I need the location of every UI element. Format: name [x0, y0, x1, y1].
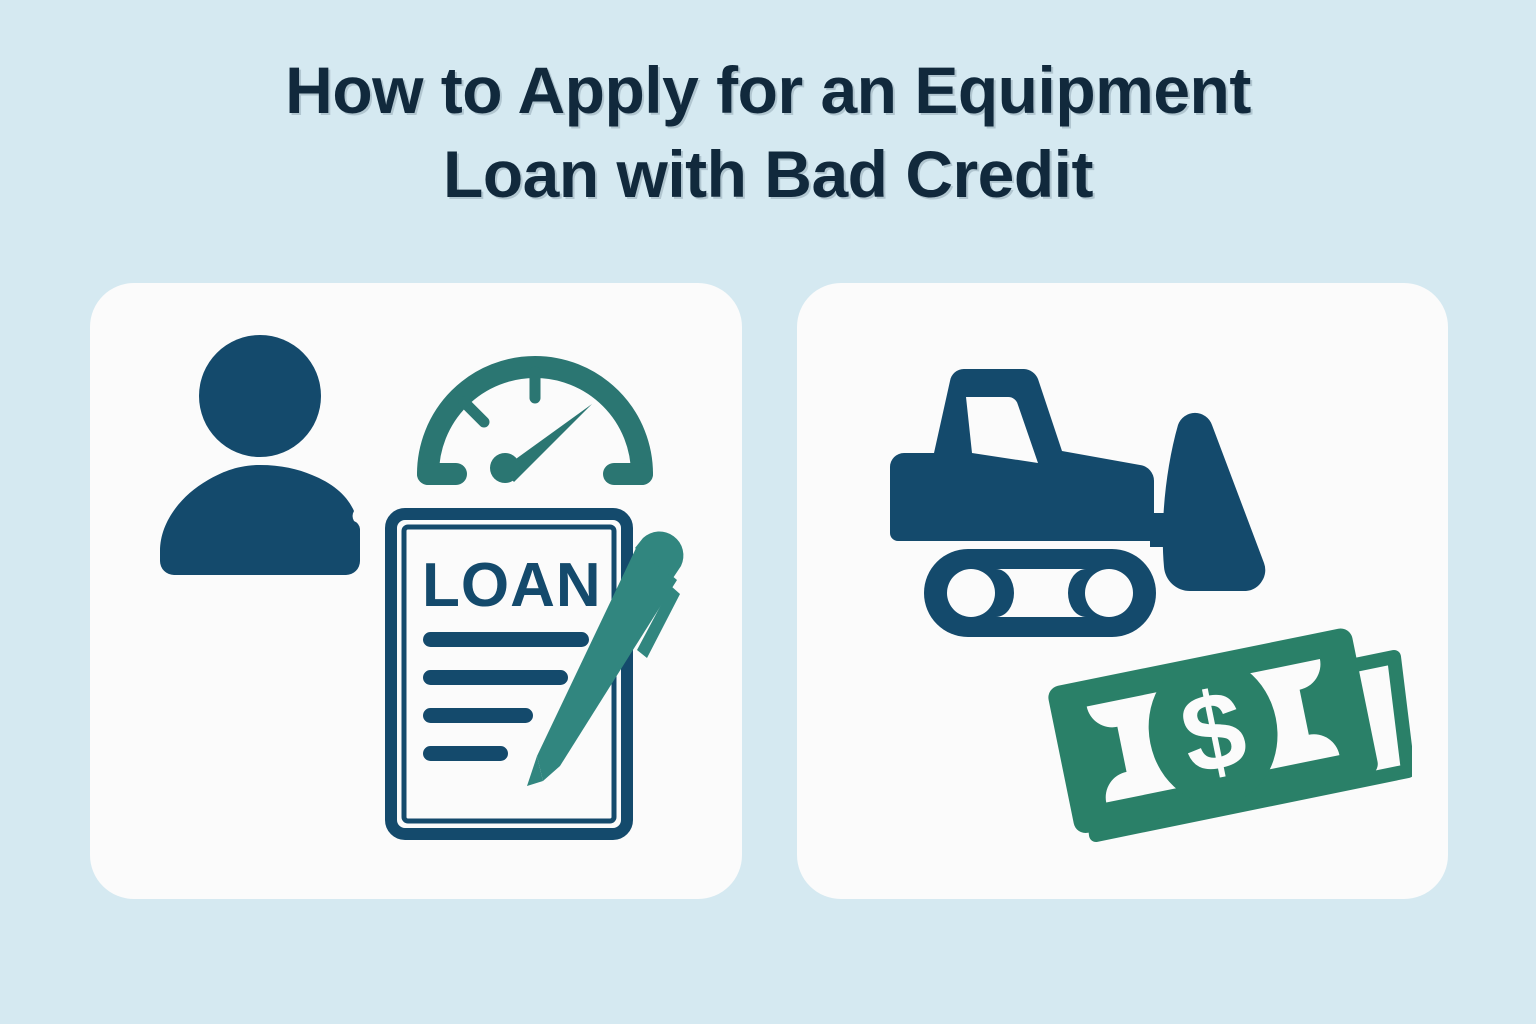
document-line-2	[423, 670, 568, 685]
loan-document-icon: LOAN	[385, 508, 705, 843]
document-line-4	[423, 746, 508, 761]
bulldozer-icon	[872, 363, 1292, 638]
right-card-icon-stage: $	[797, 283, 1449, 899]
illustration-card-row: LOAN	[90, 283, 1448, 899]
page-title: How to Apply for an Equipment Loan with …	[0, 48, 1536, 216]
document-line-3	[423, 708, 533, 723]
page-title-line-2: Loan with Bad Credit	[0, 132, 1536, 216]
page-root: How to Apply for an Equipment Loan with …	[0, 0, 1536, 1024]
equipment-financing-card: $	[797, 283, 1449, 899]
document-heading-text: LOAN	[422, 551, 602, 620]
left-card-icon-stage: LOAN	[90, 283, 742, 899]
person-icon	[150, 333, 385, 578]
page-title-line-1: How to Apply for an Equipment	[0, 48, 1536, 132]
money-stack-icon: $	[1042, 613, 1412, 858]
document-line-1	[423, 632, 589, 647]
banknote-front: $	[1046, 626, 1380, 835]
credit-gauge-icon	[410, 348, 660, 488]
borrower-loan-application-card: LOAN	[90, 283, 742, 899]
